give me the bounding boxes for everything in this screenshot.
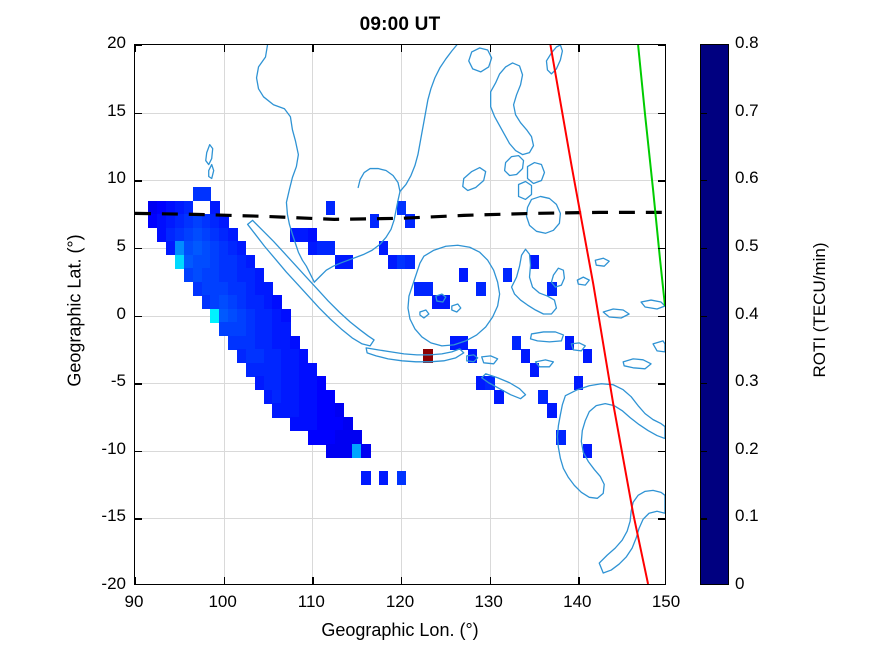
colorbar xyxy=(700,44,729,585)
roti-cell xyxy=(397,201,406,215)
colorbar-tick-label: 0.4 xyxy=(735,304,759,324)
y-tick xyxy=(135,451,142,452)
y-tick xyxy=(135,248,142,249)
roti-cell xyxy=(184,201,193,215)
x-tick xyxy=(578,577,579,584)
colorbar-tick xyxy=(701,383,707,384)
y-tick-label: 20 xyxy=(74,33,126,53)
terminator-line xyxy=(550,45,648,584)
roti-cell xyxy=(574,376,583,390)
roti-cell xyxy=(290,336,299,350)
roti-cell xyxy=(308,228,317,242)
colorbar-tick-label: 0.3 xyxy=(735,371,759,391)
roti-cell xyxy=(379,241,388,255)
roti-cell xyxy=(547,282,556,296)
x-tick xyxy=(490,577,491,584)
x-tick-label: 120 xyxy=(370,592,430,612)
gridline-x-140 xyxy=(578,45,579,584)
colorbar-label: ROTI (TECU/min) xyxy=(810,155,830,465)
roti-cell xyxy=(468,349,477,363)
roti-cell xyxy=(361,471,370,485)
roti-cell xyxy=(281,309,290,323)
roti-cell xyxy=(405,255,414,269)
x-tick xyxy=(224,45,225,52)
colorbar-tick-label: 0.1 xyxy=(735,506,759,526)
roti-cell xyxy=(565,336,574,350)
roti-cell xyxy=(512,336,521,350)
roti-cell xyxy=(530,255,539,269)
y-tick xyxy=(658,316,665,317)
colorbar-tick-label: 0.2 xyxy=(735,439,759,459)
colorbar-tick xyxy=(701,180,707,181)
y-axis-label: Geographic Lat. (°) xyxy=(65,131,86,491)
roti-cell xyxy=(352,430,361,444)
x-tick xyxy=(578,45,579,52)
y-tick xyxy=(135,316,142,317)
roti-cell xyxy=(272,295,281,309)
roti-cell xyxy=(485,376,494,390)
colorbar-tick xyxy=(701,518,707,519)
x-tick xyxy=(401,577,402,584)
x-tick-label: 140 xyxy=(547,592,607,612)
x-tick xyxy=(135,577,136,584)
gridline-x-120 xyxy=(401,45,402,584)
roti-cell xyxy=(343,255,352,269)
roti-cell xyxy=(379,471,388,485)
y-tick xyxy=(658,180,665,181)
roti-cell xyxy=(494,390,503,404)
figure-canvas: 09:00 UT xyxy=(0,0,875,656)
x-axis-label: Geographic Lon. (°) xyxy=(134,620,666,641)
colorbar-tick xyxy=(701,248,707,249)
roti-cell xyxy=(299,349,308,363)
y-tick-label: -15 xyxy=(74,506,126,526)
roti-cell xyxy=(547,403,556,417)
roti-cell xyxy=(583,444,592,458)
y-tick xyxy=(658,518,665,519)
y-tick xyxy=(135,180,142,181)
y-tick-label: 15 xyxy=(74,101,126,121)
roti-cell xyxy=(370,214,379,228)
roti-cell xyxy=(530,363,539,377)
roti-cell xyxy=(335,403,344,417)
roti-cell xyxy=(255,268,264,282)
roti-cell xyxy=(210,201,219,215)
gridline-y-10 xyxy=(135,180,665,181)
x-tick-label: 100 xyxy=(193,592,253,612)
roti-cell xyxy=(264,282,273,296)
map-axes xyxy=(134,44,666,585)
page-title: 09:00 UT xyxy=(134,14,666,36)
x-tick xyxy=(312,577,313,584)
gridline-x-130 xyxy=(490,45,491,584)
secondary-line xyxy=(638,45,665,306)
colorbar-tick-label: 0.6 xyxy=(735,168,759,188)
y-tick xyxy=(658,248,665,249)
y-tick xyxy=(658,45,665,46)
roti-cell xyxy=(459,268,468,282)
gridline-x-110 xyxy=(312,45,313,584)
roti-cell xyxy=(503,268,512,282)
gridline-y-15 xyxy=(135,113,665,114)
roti-cell xyxy=(343,417,352,431)
roti-cell xyxy=(219,214,228,228)
map-plot-area xyxy=(135,45,665,584)
colorbar-gradient xyxy=(701,45,728,584)
roti-cell xyxy=(317,376,326,390)
x-tick xyxy=(490,45,491,52)
x-tick-label: 150 xyxy=(636,592,696,612)
x-tick-label: 130 xyxy=(459,592,519,612)
y-tick xyxy=(135,113,142,114)
x-tick xyxy=(224,577,225,584)
colorbar-tick-label: 0.7 xyxy=(735,101,759,121)
roti-cell xyxy=(202,187,211,201)
roti-cell xyxy=(423,349,432,363)
colorbar-tick xyxy=(701,451,707,452)
roti-cell xyxy=(459,336,468,350)
roti-cell xyxy=(237,241,246,255)
roti-cell xyxy=(326,390,335,404)
y-tick xyxy=(658,383,665,384)
y-tick xyxy=(658,451,665,452)
roti-cell xyxy=(326,241,335,255)
roti-cell xyxy=(538,390,547,404)
roti-cell xyxy=(405,214,414,228)
y-tick xyxy=(135,45,142,46)
roti-cell xyxy=(246,255,255,269)
colorbar-tick-label: 0.5 xyxy=(735,236,759,256)
colorbar-tick xyxy=(701,316,707,317)
colorbar-tick xyxy=(701,113,707,114)
roti-cell xyxy=(308,363,317,377)
roti-cell xyxy=(476,282,485,296)
x-tick-label: 110 xyxy=(281,592,341,612)
x-tick xyxy=(401,45,402,52)
colorbar-tick-label: 0.8 xyxy=(735,33,759,53)
x-tick-label: 90 xyxy=(104,592,164,612)
x-tick xyxy=(312,45,313,52)
roti-cell xyxy=(556,430,565,444)
roti-cell xyxy=(441,295,450,309)
colorbar-tick-label: 0 xyxy=(735,574,744,594)
roti-cell xyxy=(326,201,335,215)
y-tick xyxy=(135,383,142,384)
roti-cell xyxy=(397,471,406,485)
roti-cell xyxy=(521,349,530,363)
roti-cell xyxy=(423,282,432,296)
roti-cell xyxy=(361,444,370,458)
roti-cell xyxy=(583,349,592,363)
roti-cell xyxy=(228,228,237,242)
y-tick-label: -20 xyxy=(74,574,126,594)
roti-cell xyxy=(281,322,290,336)
gridline-y-m15 xyxy=(135,518,665,519)
y-tick xyxy=(135,518,142,519)
y-tick xyxy=(658,113,665,114)
gridline-y-m5 xyxy=(135,383,665,384)
